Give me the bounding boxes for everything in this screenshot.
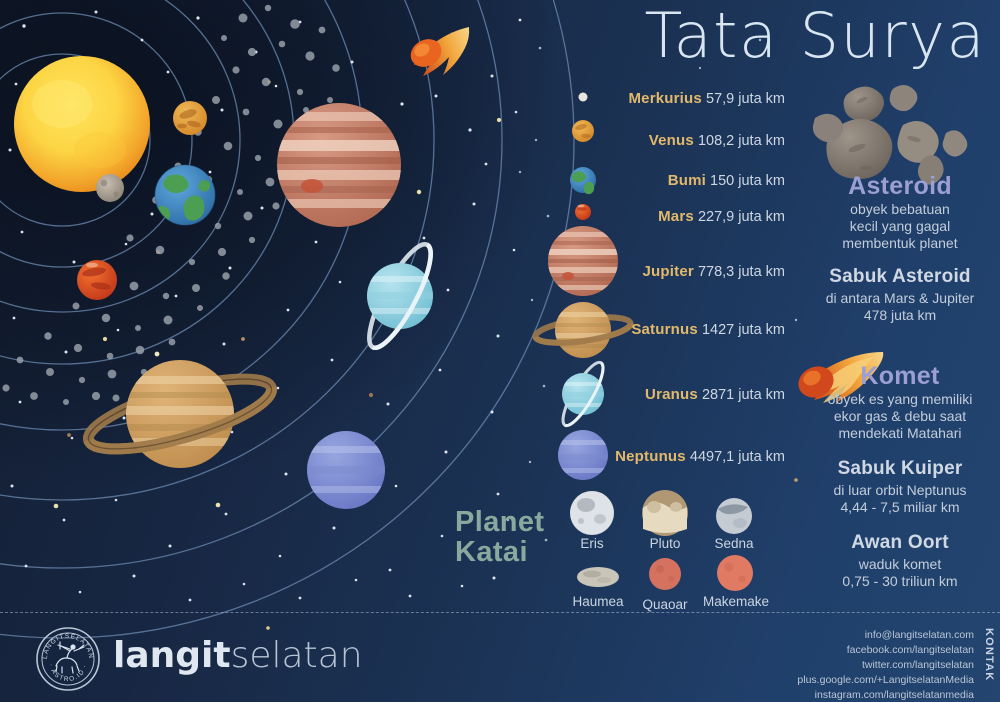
planet-row-mars: Mars 227,9 juta km xyxy=(658,208,785,225)
planet-distance: 108,2 juta km xyxy=(698,133,785,149)
planet-row-merkurius: Merkurius 57,9 juta km xyxy=(628,90,785,107)
asteroid-heading: Asteroid xyxy=(804,173,996,199)
venus-body xyxy=(173,101,207,135)
infographic-poster: LANGITSELATAN · ASTRO.ID · Tata Surya Me… xyxy=(0,0,1000,702)
dwarf-label-eris: Eris xyxy=(562,536,622,551)
awan-oort-heading: Awan Oort xyxy=(804,532,996,554)
dwarf-title-line1: Planet xyxy=(455,508,575,538)
page-title: Tata Surya xyxy=(566,4,986,67)
icon-makemake xyxy=(717,555,753,591)
dwarf-planets-title: Planet Katai xyxy=(455,508,575,567)
icon-merkurius xyxy=(579,93,588,102)
planet-name: Bumi xyxy=(668,172,706,189)
icon-quaoar xyxy=(649,558,681,590)
planet-distance: 57,9 juta km xyxy=(706,91,785,107)
icon-sedna xyxy=(716,498,752,534)
icon-venus xyxy=(572,120,594,142)
contact-email[interactable]: info@langitselatan.com xyxy=(797,628,974,643)
icon-eris xyxy=(570,491,614,535)
dwarf-label-pluto: Pluto xyxy=(635,536,695,551)
planet-distance: 1427 juta km xyxy=(702,322,785,338)
uranus-body xyxy=(359,237,442,354)
sabuk-asteroid-body: di antara Mars & Jupiter478 juta km xyxy=(804,290,996,324)
contact-facebook[interactable]: facebook.com/langitselatan xyxy=(797,643,974,658)
awan-oort-block: Awan Oort waduk komet0,75 - 30 triliun k… xyxy=(804,532,996,590)
icon-neptunus xyxy=(558,430,608,480)
footer-divider xyxy=(0,612,1000,613)
komet-heading: Komet xyxy=(804,363,996,389)
asteroid-body: obyek bebatuankecil yang gagalmembentuk … xyxy=(804,201,996,252)
icon-pluto xyxy=(642,490,688,536)
contact-twitter[interactable]: twitter.com/langitselatan xyxy=(797,658,974,673)
icon-mars xyxy=(575,204,591,220)
planet-distance: 150 juta km xyxy=(710,173,785,189)
planet-distance: 227,9 juta km xyxy=(698,209,785,225)
sabuk-kuiper-block: Sabuk Kuiper di luar orbit Neptunus4,44 … xyxy=(804,458,996,516)
kontak-vertical-label: KONTAK xyxy=(983,628,995,681)
planet-name: Mars xyxy=(658,208,694,225)
mars-body xyxy=(77,260,117,300)
planet-row-neptunus: Neptunus 4497,1 juta km xyxy=(615,448,785,465)
mercury-body xyxy=(96,174,124,202)
brand-wordmark: langitselatan xyxy=(113,638,363,674)
dwarf-label-haumea: Haumea xyxy=(562,594,634,609)
komet-body: obyek es yang memilikiekor gas & debu sa… xyxy=(804,391,996,442)
dwarf-label-makemake: Makemake xyxy=(694,594,778,609)
sun xyxy=(14,56,150,192)
awan-oort-body: waduk komet0,75 - 30 triliun km xyxy=(804,556,996,590)
planet-row-bumi: Bumi 150 juta km xyxy=(668,172,785,189)
planet-name: Merkurius xyxy=(628,90,702,107)
dwarf-label-quaoar: Quaoar xyxy=(630,597,700,612)
planet-name: Saturnus xyxy=(631,321,698,338)
footer: langitselatan info@langitselatan.com fac… xyxy=(0,612,1000,702)
solar-system-artwork: LANGITSELATAN · ASTRO.ID · xyxy=(0,0,1000,702)
planet-row-jupiter: Jupiter 778,3 juta km xyxy=(642,263,785,280)
sabuk-asteroid-block: Sabuk Asteroid di antara Mars & Jupiter4… xyxy=(804,266,996,324)
planet-name: Jupiter xyxy=(642,263,693,280)
planet-distance: 778,3 juta km xyxy=(698,264,785,280)
neptune-body xyxy=(307,431,385,509)
contact-list: info@langitselatan.com facebook.com/lang… xyxy=(797,628,974,702)
planet-row-uranus: Uranus 2871 juta km xyxy=(645,386,785,403)
planet-name: Uranus xyxy=(645,386,698,403)
dwarf-label-sedna: Sedna xyxy=(704,536,764,551)
icon-bumi xyxy=(570,167,596,194)
asteroid-cluster-art xyxy=(813,85,967,185)
dwarf-title-line2: Katai xyxy=(455,538,575,568)
sabuk-asteroid-heading: Sabuk Asteroid xyxy=(804,266,996,288)
planet-distance: 4497,1 juta km xyxy=(690,449,785,465)
planet-row-venus: Venus 108,2 juta km xyxy=(649,132,785,149)
earth-body xyxy=(154,165,215,225)
planet-distance: 2871 juta km xyxy=(702,387,785,403)
komet-block: Komet obyek es yang memilikiekor gas & d… xyxy=(804,363,996,442)
planet-scale-icons xyxy=(534,93,632,481)
planet-name: Neptunus xyxy=(615,448,686,465)
contact-instagram[interactable]: instagram.com/langitselatanmedia xyxy=(797,688,974,702)
planet-row-saturnus: Saturnus 1427 juta km xyxy=(631,321,785,338)
icon-jupiter xyxy=(548,226,618,296)
brand-light: selatan xyxy=(231,635,363,676)
icon-haumea xyxy=(577,567,619,587)
icon-uranus xyxy=(556,358,609,430)
planet-name: Venus xyxy=(649,132,694,149)
sabuk-kuiper-body: di luar orbit Neptunus4,44 - 7,5 miliar … xyxy=(804,482,996,516)
contact-googleplus[interactable]: plus.google.com/+LangitselatanMedia xyxy=(797,673,974,688)
brand-bold: langit xyxy=(113,635,231,676)
asteroid-block: Asteroid obyek bebatuankecil yang gagalm… xyxy=(804,173,996,252)
sabuk-kuiper-heading: Sabuk Kuiper xyxy=(804,458,996,480)
comet-left xyxy=(406,27,470,76)
jupiter-body xyxy=(277,103,401,227)
icon-saturnus xyxy=(534,302,632,358)
